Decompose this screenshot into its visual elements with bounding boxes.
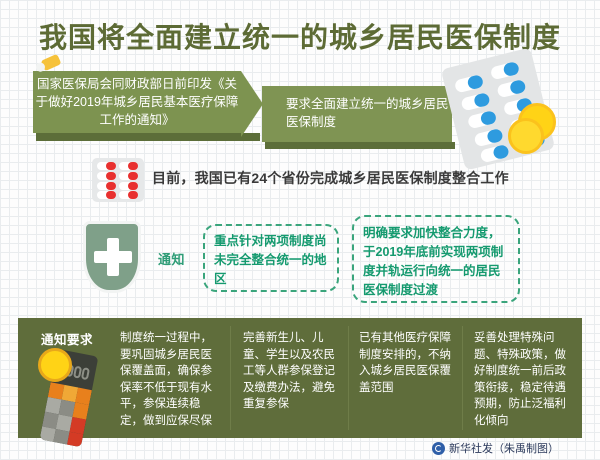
banner-left: 国家医保局会同财政部日前印发《关于做好2019年城乡居民基本医疗保障工作的通知》 xyxy=(33,71,241,133)
requirement-item-4: 妥善处理特殊问题、特殊政策，做好制度统一前后政策衔接，稳定待遇预期，防止泛福利化… xyxy=(474,330,570,429)
capsule-icon xyxy=(97,191,116,199)
banner-left-shadow xyxy=(36,133,260,141)
requirement-item-1: 制度统一过程中，要巩固城乡居民医保覆盖面，确保参保率不低于现有水平，参保连续稳定… xyxy=(120,330,220,429)
credit-text: 新华社发（朱禹制图） xyxy=(449,440,559,456)
column-divider xyxy=(462,326,463,430)
column-divider xyxy=(230,326,231,430)
page-title: 我国将全面建立统一的城乡居民医保制度 xyxy=(0,16,600,56)
notice-label: 通知 xyxy=(158,249,185,268)
banner-left-arrow-icon xyxy=(241,71,263,137)
coin-icon xyxy=(508,118,544,154)
coin-icon xyxy=(38,348,72,382)
capsule-icon xyxy=(119,162,138,170)
capsule-icon xyxy=(97,182,116,190)
requirements-title: 通知要求 xyxy=(41,329,93,348)
cross-horizontal xyxy=(94,251,132,263)
capsule-icon xyxy=(119,182,138,190)
shield-body xyxy=(83,221,141,293)
xinhua-logo-icon xyxy=(432,442,445,455)
capsule-icon xyxy=(97,162,116,170)
tag-icon xyxy=(41,54,62,71)
blister-pack-red-icon xyxy=(92,158,144,202)
capsule-icon xyxy=(119,172,138,180)
column-divider xyxy=(348,326,349,430)
notice-bubble-1: 重点针对两项制度尚未完全整合统一的地区 xyxy=(203,224,339,292)
banner-right-shadow xyxy=(265,142,455,149)
credit: 新华社发（朱禹制图） xyxy=(432,440,559,456)
keypad-cell xyxy=(67,432,84,447)
capsule-icon xyxy=(119,191,138,199)
shield-cross-icon xyxy=(83,221,141,293)
notice-bubble-2: 明确要求加快整合力度，于2019年底前实现两项制度并轨运行向统一的居民医保制度过… xyxy=(352,215,520,303)
capsule-icon xyxy=(97,172,116,180)
infographic-poster: 我国将全面建立统一的城乡居民医保制度 国家医保局会同财政部日前印发《关于做好20… xyxy=(0,0,600,460)
requirement-item-3: 已有其他医疗保障制度安排的，不纳入城乡居民医保覆盖范围 xyxy=(359,330,453,396)
mid-statement: 目前，我国已有24个省份完成城乡居民医保制度整合工作 xyxy=(152,168,509,188)
banner-right: 要求全面建立统一的城乡居民医保制度 xyxy=(262,86,452,142)
requirement-item-2: 完善新生儿、儿童、学生以及农民工等人群参保登记及缴费办法，避免重复参保 xyxy=(243,330,339,413)
